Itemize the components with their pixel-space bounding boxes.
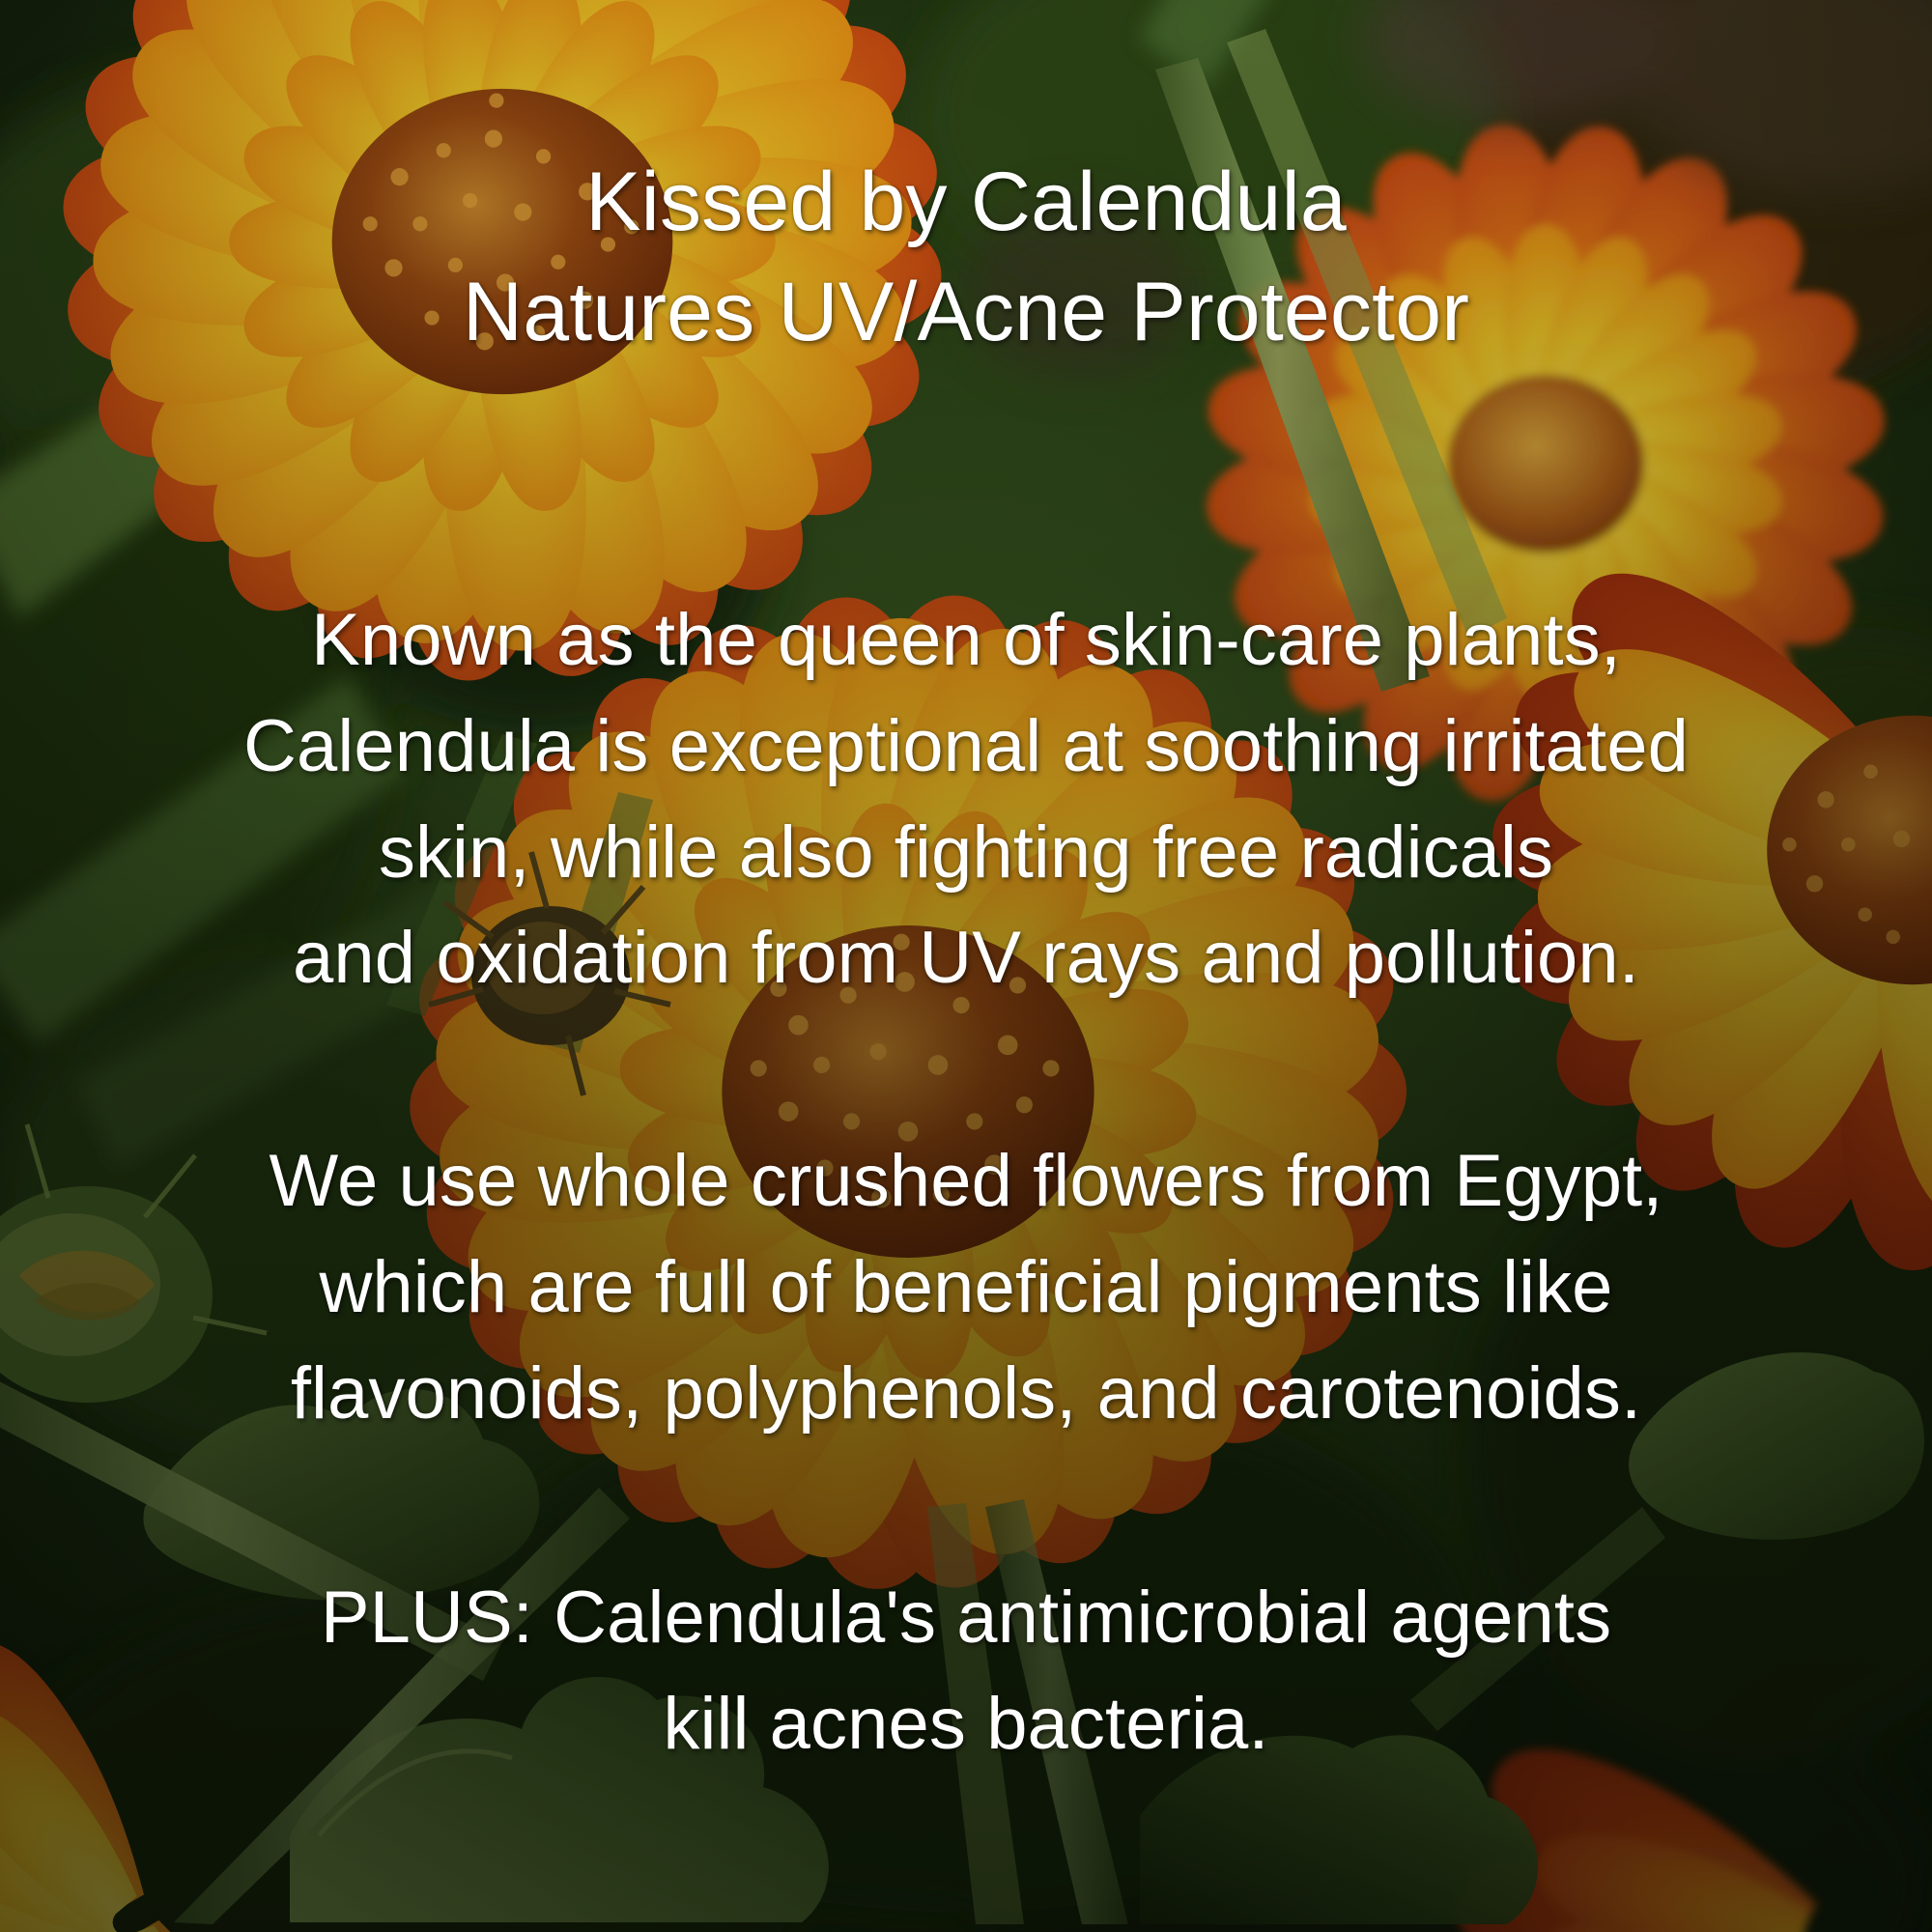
paragraph-antimicrobial: PLUS: Calendula's antimicrobial agents k… <box>29 1565 1903 1777</box>
paragraph-line: We use whole crushed flowers from Egypt, <box>29 1128 1903 1235</box>
headline-line-2: Natures UV/Acne Protector <box>0 257 1932 367</box>
paragraph-benefits: Known as the queen of skin-care plants, … <box>29 587 1903 1011</box>
paragraph-line: PLUS: Calendula's antimicrobial agents <box>29 1565 1903 1671</box>
promo-graphic: Kissed by Calendula Natures UV/Acne Prot… <box>0 0 1932 1932</box>
text-overlay: Kissed by Calendula Natures UV/Acne Prot… <box>0 0 1932 1932</box>
paragraph-line: and oxidation from UV rays and pollution… <box>29 905 1903 1011</box>
headline-line-1: Kissed by Calendula <box>0 147 1932 257</box>
headline: Kissed by Calendula Natures UV/Acne Prot… <box>0 147 1932 368</box>
paragraph-line: Calendula is exceptional at soothing irr… <box>29 694 1903 800</box>
paragraph-line: which are full of beneficial pigments li… <box>29 1235 1903 1341</box>
paragraph-line: Known as the queen of skin-care plants, <box>29 587 1903 694</box>
paragraph-line: flavonoids, polyphenols, and carotenoids… <box>29 1341 1903 1447</box>
paragraph-line: kill acnes bacteria. <box>29 1671 1903 1777</box>
paragraph-line: skin, while also fighting free radicals <box>29 800 1903 906</box>
paragraph-sourcing: We use whole crushed flowers from Egypt,… <box>29 1128 1903 1446</box>
